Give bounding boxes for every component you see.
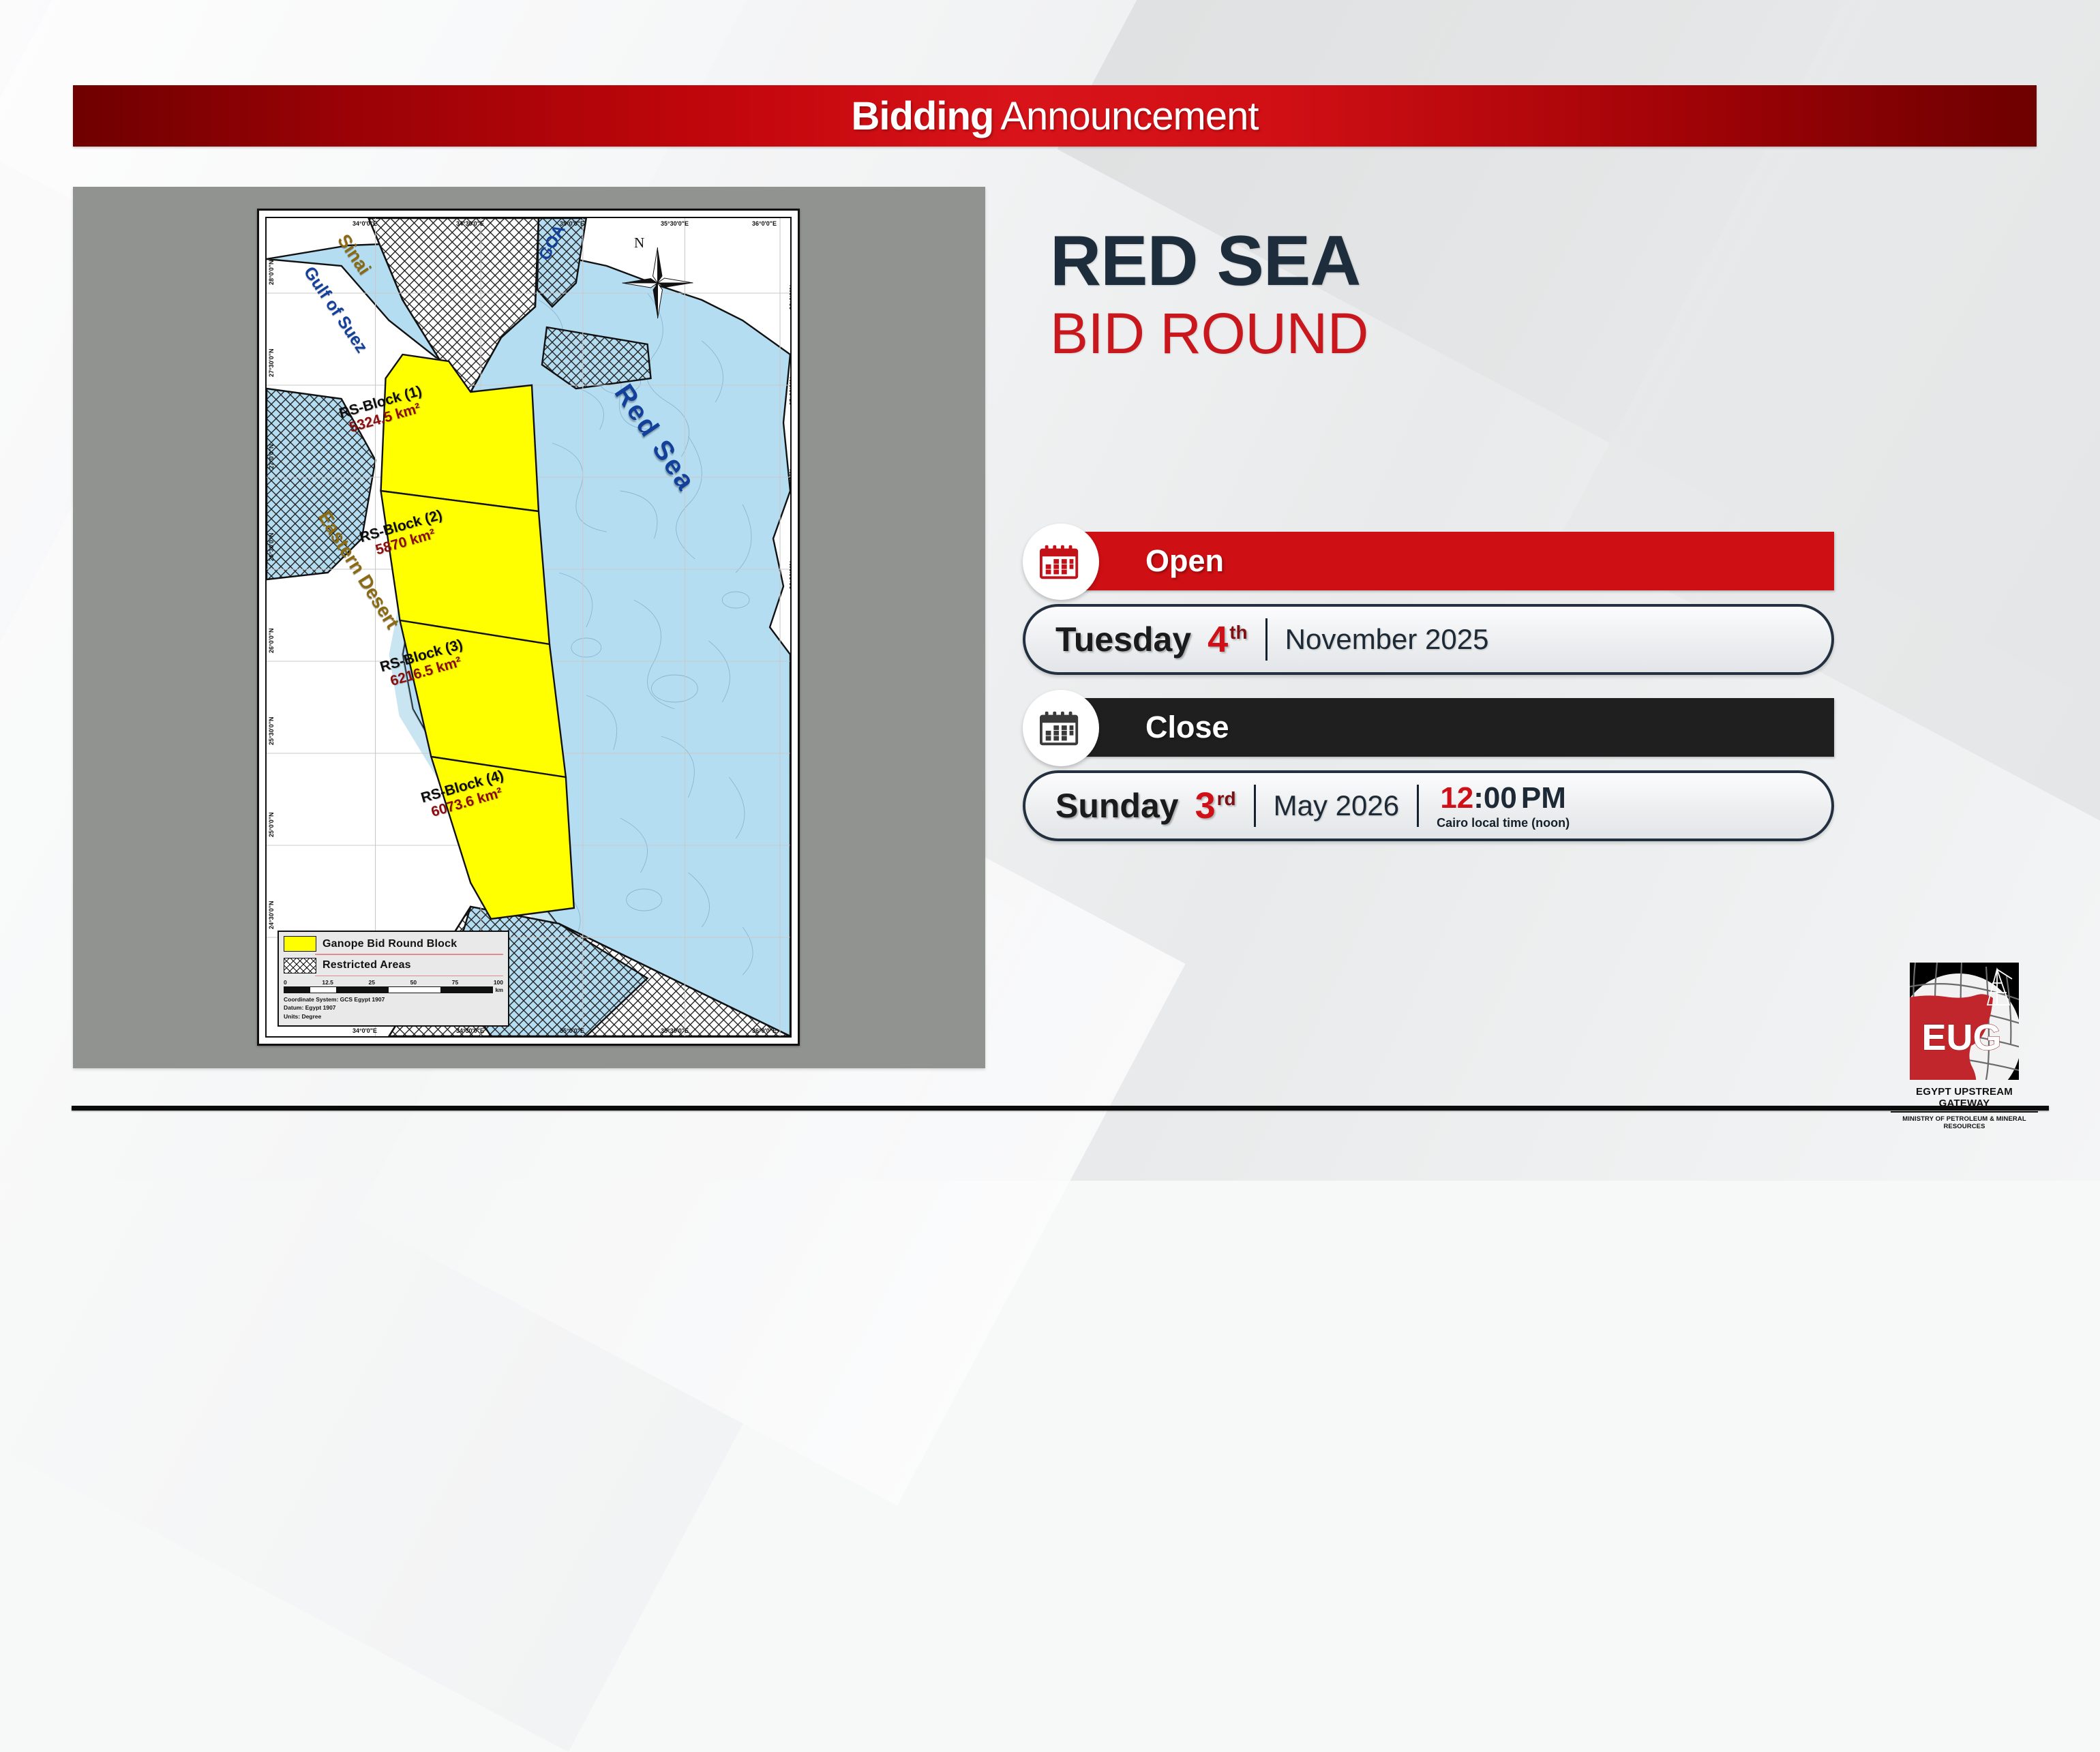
legend-swatch-restricted (284, 958, 316, 973)
open-month-year: November 2025 (1285, 623, 1489, 656)
eug-logo-caption: EGYPT UPSTREAM GATEWAY MINISTRY OF PETRO… (1891, 1086, 2038, 1130)
schedule-section: Open (1023, 532, 1834, 864)
eug-logo-name: EGYPT UPSTREAM GATEWAY (1891, 1086, 2038, 1113)
scale-bar (284, 986, 493, 993)
close-time-meridiem: PM (1521, 781, 1566, 815)
coordinate-system: Coordinate System: GCS Egypt 1907 (284, 995, 503, 1003)
close-time-minutes: :00 (1473, 781, 1517, 815)
scale-tick: 25 (369, 979, 375, 986)
eug-logo-ministry: MINISTRY OF PETROLEUM & MINERAL RESOURCE… (1891, 1115, 2038, 1130)
open-calendar-icon-circle (1023, 524, 1099, 600)
open-day-ordinal: th (1229, 622, 1247, 643)
open-status-bar: Open (1064, 532, 1834, 590)
open-label: Open (1145, 543, 1224, 579)
close-status-bar: Close (1064, 698, 1834, 757)
banner-title-light: Announcement (1000, 94, 1258, 138)
scale-unit: km (495, 987, 503, 993)
open-day-value: 4 (1207, 619, 1228, 660)
legend-divider (315, 954, 503, 955)
legend-label-block: Ganope Bid Round Block (322, 938, 457, 950)
map-legend: Ganope Bid Round Block Restricted Areas … (277, 931, 509, 1027)
hero-title-block: RED SEA BID ROUND (1050, 225, 1855, 365)
map-frame: N Sinai Gulf of Suez GOA Red Sea Eastern… (257, 209, 800, 1046)
eug-logo-mark: EUG (1910, 963, 2019, 1080)
scale-tick: 100 (494, 979, 503, 986)
header-banner: BiddingAnnouncement (73, 85, 2037, 147)
pill-divider (1254, 785, 1256, 827)
units: Units: Degree (284, 1012, 503, 1021)
open-bar-row: Open (1023, 532, 1834, 590)
scale-tick: 75 (452, 979, 458, 986)
close-date-pill[interactable]: Sunday 3rd May 2026 12:00PM Cairo local … (1023, 770, 1834, 841)
page-title: RED SEA (1050, 225, 1855, 297)
map-canvas[interactable]: N Sinai Gulf of Suez GOA Red Sea Eastern… (265, 217, 792, 1038)
eug-globe-icon: EUG (1910, 963, 2019, 1080)
close-weekday: Sunday (1055, 786, 1179, 826)
close-bar-row: Close (1023, 698, 1834, 757)
close-time: 12:00PM (1440, 783, 1566, 813)
map-graphic (267, 218, 790, 1036)
pill-divider (1417, 785, 1419, 827)
close-day-number: 3rd (1195, 785, 1236, 827)
open-day-number: 4th (1207, 618, 1247, 661)
close-month-year: May 2026 (1274, 789, 1399, 822)
scale-tick-labels: 0 12.5 25 50 75 100 (284, 979, 503, 986)
footer-divider (72, 1106, 2049, 1111)
scale-tick: 50 (410, 979, 417, 986)
banner-title-bold: Bidding (851, 94, 993, 138)
map-panel: N Sinai Gulf of Suez GOA Red Sea Eastern… (73, 187, 985, 1068)
close-day-value: 3 (1195, 785, 1216, 826)
legend-row-restricted: Restricted Areas (284, 958, 503, 973)
open-date-pill[interactable]: Tuesday 4th November 2025 (1023, 604, 1834, 675)
scale-tick: 12.5 (322, 979, 333, 986)
legend-swatch-block (284, 936, 316, 952)
map-metadata: Coordinate System: GCS Egypt 1907 Datum:… (284, 995, 503, 1021)
pill-divider (1265, 618, 1267, 661)
eug-logo: EUG EGYPT UPSTREAM GATEWAY MINISTRY OF P… (1891, 963, 2038, 1130)
calendar-icon (1040, 707, 1082, 749)
page-subtitle: BID ROUND (1050, 301, 1855, 365)
close-day-ordinal: rd (1217, 788, 1236, 809)
close-time-hour: 12 (1440, 781, 1473, 815)
close-time-block: 12:00PM Cairo local time (noon) (1437, 783, 1570, 829)
legend-label-restricted: Restricted Areas (322, 959, 411, 971)
calendar-icon (1040, 541, 1082, 583)
close-calendar-icon-circle (1023, 690, 1099, 766)
banner-title: BiddingAnnouncement (851, 93, 1258, 139)
close-time-note: Cairo local time (noon) (1437, 817, 1570, 829)
legend-row-block: Ganope Bid Round Block (284, 936, 503, 952)
legend-divider (315, 976, 503, 977)
scale-tick: 0 (284, 979, 287, 986)
open-weekday: Tuesday (1055, 620, 1191, 659)
eug-wordmark: EUG (1921, 1017, 2001, 1058)
close-label: Close (1145, 710, 1229, 745)
datum: Datum: Egypt 1907 (284, 1003, 503, 1012)
